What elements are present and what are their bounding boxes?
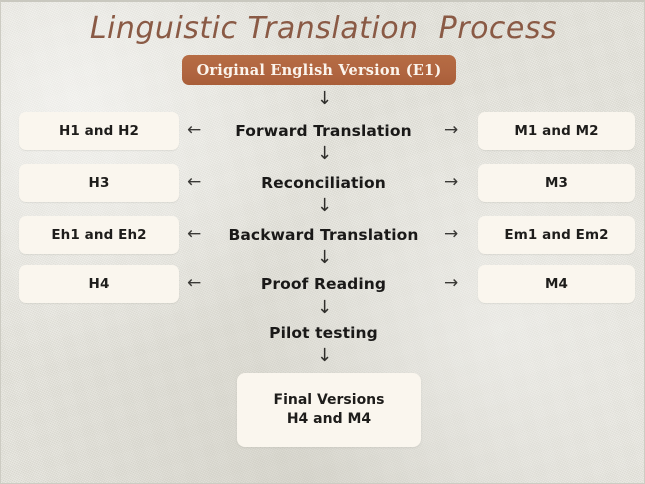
stage-backward-translation: Backward Translation [183,226,464,244]
node-h4: H4 [19,265,179,303]
node-eh1-and-eh2-label: Eh1 and Eh2 [51,227,146,243]
node-m3-label: M3 [545,175,568,191]
node-final-versions: Final Versions H4 and M4 [237,373,421,447]
flow-arrow-pilot-to-final: ↓ [317,347,330,365]
node-h1-and-h2: H1 and H2 [19,112,179,150]
stage-proof-reading: Proof Reading [183,275,464,293]
node-eh1-and-eh2: Eh1 and Eh2 [19,216,179,254]
node-m1-and-m2: M1 and M2 [478,112,635,150]
node-h3-label: H3 [89,175,110,191]
node-original-english-version-label: Original English Version (E1) [197,62,442,79]
stage-forward-translation: Forward Translation [183,122,464,140]
flow-arrow-backward-to-proof-reading: ↓ [317,249,330,267]
node-h4-label: H4 [89,276,110,292]
diagram-canvas: Linguistic Translation Process Original … [0,0,645,484]
flow-arrow-proof-reading-to-pilot: ↓ [317,299,330,317]
diagram-title: Linguistic Translation Process [1,11,645,46]
node-h1-and-h2-label: H1 and H2 [59,123,139,139]
arrow-reconciliation-to-right: → [444,174,458,191]
node-h3: H3 [19,164,179,202]
node-em1-and-em2: Em1 and Em2 [478,216,635,254]
stage-reconciliation: Reconciliation [183,174,464,192]
stage-pilot-testing: Pilot testing [183,324,464,342]
arrow-forward-to-right: → [444,122,458,139]
node-final-versions-line1: Final Versions [274,391,385,410]
node-m4: M4 [478,265,635,303]
node-original-english-version: Original English Version (E1) [182,55,456,85]
flow-arrow-origin-to-forward: ↓ [317,90,330,108]
arrow-proof-reading-to-right: → [444,275,458,292]
flow-arrow-forward-to-reconciliation: ↓ [317,145,330,163]
node-final-versions-line2: H4 and M4 [287,410,371,429]
arrow-backward-to-right: → [444,226,458,243]
node-em1-and-em2-label: Em1 and Em2 [504,227,608,243]
flow-arrow-reconciliation-to-backward: ↓ [317,197,330,215]
node-m1-and-m2-label: M1 and M2 [514,123,598,139]
node-m3: M3 [478,164,635,202]
node-m4-label: M4 [545,276,568,292]
